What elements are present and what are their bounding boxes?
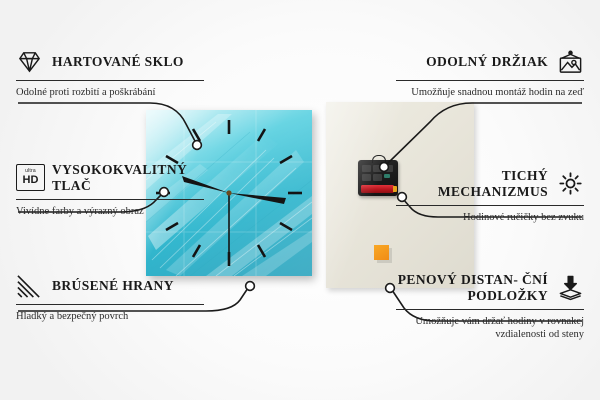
feature-description: Vivídne farby a výrazný obraz <box>16 205 204 219</box>
foam-spacer-pad <box>374 245 389 260</box>
clock-mechanism <box>358 160 398 196</box>
feature-head: PENOVÝ DISTAN- ČNÍ PODLOŽKY <box>396 272 584 304</box>
feature-title: PENOVÝ DISTAN- ČNÍ PODLOŽKY <box>396 272 548 304</box>
feature-divider <box>396 80 584 81</box>
mechanism-vent <box>362 174 371 181</box>
feature-ground-edges: BRÚSENÉ HRANY Hladký a bezpečný povrch <box>16 272 204 324</box>
feature-divider <box>16 304 204 305</box>
feature-durable-holder: ODOLNÝ DRŽIAK Umožňuje snadnou montáž ho… <box>396 48 584 100</box>
product-feature-infographic: HARTOVANÉ SKLO Odolné proti rozbití a po… <box>0 0 600 400</box>
feature-foam-spacers: PENOVÝ DISTAN- ČNÍ PODLOŽKY Umožňuje vám… <box>396 272 584 342</box>
feature-description: Umožňuje vám držať hodiny v rovnakej vzd… <box>396 315 584 342</box>
feature-head: ODOLNÝ DRŽIAK <box>396 48 584 75</box>
feature-title: VYSOKOKVALITNÝ TLAČ <box>52 162 204 194</box>
diagonal-lines-icon <box>16 272 43 299</box>
feature-description: Hodinové ručičky bez zvuku <box>396 211 584 225</box>
feature-divider <box>16 80 204 81</box>
feature-high-quality-print: ultra HD VYSOKOKVALITNÝ TLAČ Vivídne far… <box>16 162 204 218</box>
stacked-layers-arrow-icon <box>557 274 584 301</box>
feature-divider <box>16 199 204 200</box>
feature-divider <box>396 205 584 206</box>
feature-title: ODOLNÝ DRŽIAK <box>426 54 548 70</box>
mechanism-vent <box>373 165 382 172</box>
feature-head: HARTOVANÉ SKLO <box>16 48 204 75</box>
diamond-icon <box>16 48 43 75</box>
hanging-frame-icon <box>557 48 584 75</box>
ultra-hd-badge-icon: ultra HD <box>16 164 43 191</box>
feature-head: TICHÝ MECHANIZMUS <box>396 168 584 200</box>
feature-title: TICHÝ MECHANIZMUS <box>396 168 548 200</box>
gear-icon <box>557 170 584 197</box>
mechanism-hanger <box>372 155 386 163</box>
feature-title: HARTOVANÉ SKLO <box>52 54 184 70</box>
feature-silent-mechanism: TICHÝ MECHANIZMUS Hodinové ručičky bez z… <box>396 168 584 224</box>
feature-tempered-glass: HARTOVANÉ SKLO Odolné proti rozbití a po… <box>16 48 204 100</box>
mechanism-vent <box>373 174 382 181</box>
feature-head: BRÚSENÉ HRANY <box>16 272 204 299</box>
feature-head: ultra HD VYSOKOKVALITNÝ TLAČ <box>16 162 204 194</box>
feature-description: Umožňuje snadnou montáž hodin na zeď <box>396 86 584 100</box>
feature-description: Hladký a bezpečný povrch <box>16 310 204 324</box>
mechanism-vent <box>384 165 393 172</box>
feature-title: BRÚSENÉ HRANY <box>52 278 174 294</box>
mechanism-vent <box>362 165 371 172</box>
aa-battery <box>361 185 394 193</box>
feature-divider <box>396 309 584 310</box>
hd-badge-main-label: HD <box>23 175 39 186</box>
feature-description: Odolné proti rozbití a poškrábání <box>16 86 204 100</box>
mechanism-vent <box>384 174 390 178</box>
